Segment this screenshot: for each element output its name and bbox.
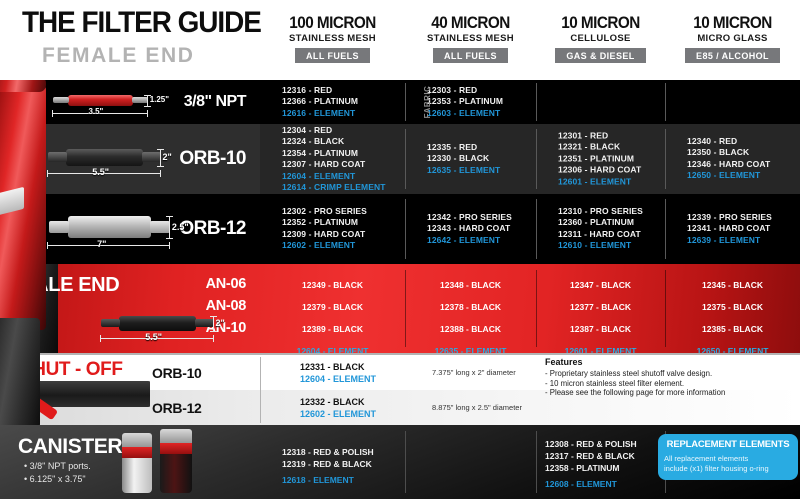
column-fuel-badge: ALL FUELS bbox=[433, 48, 508, 63]
part-number: 12330 - BLACK bbox=[427, 153, 500, 164]
part-number: 12639 - ELEMENT bbox=[687, 235, 772, 246]
filter-body bbox=[68, 95, 133, 106]
part-number-cell bbox=[536, 80, 665, 124]
features-block: Features - Proprietary stainless steel s… bbox=[545, 357, 725, 398]
part-number: 12351 - PLATINUM bbox=[558, 153, 641, 164]
shutoff-dimension: 8.875" long x 2.5" diameter bbox=[432, 403, 522, 412]
row-label: 3/8" NPT bbox=[184, 93, 246, 111]
column-divider bbox=[536, 270, 537, 347]
row-label: ORB-12 bbox=[179, 218, 246, 240]
product-thumbnail: 5.5"2" bbox=[95, 304, 220, 346]
column-material-label: MICRO GLASS bbox=[665, 33, 800, 44]
part-number: 12650 - ELEMENT bbox=[687, 170, 770, 181]
part-number-list: 12335 - RED12330 - BLACK12635 - ELEMENT bbox=[427, 142, 500, 176]
part-number: 12302 - PRO SERIES bbox=[282, 206, 367, 217]
column-micron-label: 100 MICRON bbox=[267, 14, 398, 32]
part-number-cell: 12316 - RED12366 - PLATINUM12616 - ELEME… bbox=[260, 80, 405, 124]
part-number-cell: 12345 - BLACK12375 - BLACK12385 - BLACK1… bbox=[665, 264, 800, 353]
dimension-tick bbox=[157, 166, 164, 167]
part-number-list: 12340 - RED12350 - BLACK12346 - HARD COA… bbox=[687, 136, 770, 182]
dimension-length-label: 3.5" bbox=[88, 107, 103, 116]
part-number: 12618 - ELEMENT bbox=[282, 475, 354, 486]
part-number: 12308 - RED & POLISH bbox=[545, 439, 637, 450]
filter-body bbox=[66, 149, 144, 166]
part-number: 12301 - RED bbox=[558, 130, 641, 141]
part-number: 12353 - PLATINUM bbox=[427, 96, 503, 107]
dimension-tick bbox=[144, 106, 151, 107]
part-number: 12331 - BLACK bbox=[300, 362, 365, 373]
male-end-section: MALE END AN-06AN-08AN-105.5"2" 12349 - B… bbox=[0, 264, 800, 353]
column-divider bbox=[405, 199, 406, 259]
table-row: ORB-127"2.5"12302 - PRO SERIES12352 - PL… bbox=[0, 194, 800, 264]
part-number: 12387 - BLACK bbox=[536, 324, 665, 334]
fabric-label: FABRIC bbox=[423, 86, 432, 119]
column-micron-label: 10 MICRON bbox=[542, 14, 658, 32]
shutoff-orb-label: ORB-10 bbox=[152, 365, 202, 381]
part-number: 12375 - BLACK bbox=[665, 302, 800, 312]
part-number: 12385 - BLACK bbox=[665, 324, 800, 334]
canister-spec: • 3/8" NPT ports. bbox=[24, 461, 91, 471]
part-number: 12379 - BLACK bbox=[260, 302, 405, 312]
dimension-line-diameter bbox=[147, 95, 148, 106]
replacement-elements-heading: REPLACEMENT ELEMENTS bbox=[658, 439, 798, 450]
column-divider bbox=[536, 129, 537, 189]
part-number-list: 12310 - PRO SERIES12360 - PLATINUM12311 … bbox=[558, 206, 643, 252]
dimension-length-label: 5.5" bbox=[92, 167, 109, 177]
part-number-cell: 12301 - RED12321 - BLACK12351 - PLATINUM… bbox=[536, 124, 665, 194]
part-number: 12345 - BLACK bbox=[665, 280, 800, 290]
dimension-line-diameter bbox=[213, 316, 214, 331]
column-header-1: 100 MICRONSTAINLESS MESHALL FUELS bbox=[260, 14, 405, 64]
part-number: 12347 - BLACK bbox=[536, 280, 665, 290]
features-heading: Features bbox=[545, 357, 725, 367]
filter-guide-page: THE FILTER GUIDE FEMALE END 100 MICRONST… bbox=[0, 0, 800, 499]
filter-body bbox=[68, 216, 152, 238]
part-number: 12642 - ELEMENT bbox=[427, 235, 512, 246]
part-number-cell: 12348 - BLACK12378 - BLACK12388 - BLACK1… bbox=[405, 264, 536, 353]
part-number: 12354 - PLATINUM bbox=[282, 148, 386, 159]
part-number-list: 12301 - RED12321 - BLACK12351 - PLATINUM… bbox=[558, 130, 641, 187]
column-material-label: STAINLESS MESH bbox=[260, 33, 405, 44]
part-number: 12602 - ELEMENT bbox=[282, 240, 367, 251]
column-fuel-badge: ALL FUELS bbox=[295, 48, 370, 63]
part-number: 12341 - HARD COAT bbox=[687, 223, 772, 234]
column-fuel-badge: GAS & DIESEL bbox=[555, 48, 645, 63]
dimension-tick bbox=[147, 110, 148, 117]
column-divider bbox=[405, 83, 406, 121]
shutoff-section: ORB-1212332 - BLACK12602 - ELEMENT8.875"… bbox=[0, 353, 800, 425]
part-number: 12635 - ELEMENT bbox=[427, 165, 500, 176]
page-header: THE FILTER GUIDE FEMALE END 100 MICRONST… bbox=[0, 0, 800, 80]
part-number-cell: 12342 - PRO SERIES12343 - HARD COAT12642… bbox=[405, 194, 536, 264]
part-number: 12342 - PRO SERIES bbox=[427, 212, 512, 223]
column-divider bbox=[536, 83, 537, 121]
row-cells: 12316 - RED12366 - PLATINUM12616 - ELEME… bbox=[260, 80, 800, 124]
dimension-tick bbox=[210, 316, 217, 317]
part-number: 12309 - HARD COAT bbox=[282, 229, 367, 240]
shutoff-orb-label: ORB-12 bbox=[152, 400, 202, 416]
part-number-list: 12303 - RED12353 - PLATINUM12603 - ELEME… bbox=[427, 85, 503, 119]
part-number: 12349 - BLACK bbox=[260, 280, 405, 290]
part-number: 12602 - ELEMENT bbox=[300, 409, 376, 420]
dimension-length-label: 7" bbox=[97, 239, 106, 249]
part-number: 12377 - BLACK bbox=[536, 302, 665, 312]
hero-lower-body bbox=[0, 318, 40, 425]
column-material-label: CELLULOSE bbox=[536, 33, 665, 44]
row-label: ORB-10 bbox=[179, 148, 246, 170]
part-number: 12339 - PRO SERIES bbox=[687, 212, 772, 223]
filter-end-cap bbox=[150, 221, 170, 233]
column-header-2: 40 MICRONSTAINLESS MESHALL FUELS bbox=[405, 14, 536, 64]
part-number-cell bbox=[665, 80, 800, 124]
part-number: 12616 - ELEMENT bbox=[282, 108, 358, 119]
canister-body-polish bbox=[122, 458, 152, 493]
canister-title: CANISTER bbox=[18, 435, 122, 459]
feature-item: - 10 micron stainless steel filter eleme… bbox=[545, 379, 725, 389]
canister-image-black bbox=[160, 429, 192, 493]
part-number: 12346 - HARD COAT bbox=[687, 159, 770, 170]
part-number-cell: 12335 - RED12330 - BLACK12635 - ELEMENT bbox=[405, 124, 536, 194]
hero-cap bbox=[0, 80, 46, 92]
part-number-list: 12316 - RED12366 - PLATINUM12616 - ELEME… bbox=[282, 85, 358, 119]
replacement-elements-badge: REPLACEMENT ELEMENTS All replacement ele… bbox=[658, 434, 798, 480]
dimension-tick bbox=[169, 242, 170, 249]
part-number: 12604 - ELEMENT bbox=[282, 170, 386, 181]
part-number-cell: 12303 - RED12353 - PLATINUM12603 - ELEME… bbox=[405, 80, 536, 124]
part-number: 12324 - BLACK bbox=[282, 136, 386, 147]
part-number: 12603 - ELEMENT bbox=[427, 108, 503, 119]
filter-end-cap bbox=[101, 319, 120, 327]
part-number: 12378 - BLACK bbox=[405, 302, 536, 312]
part-number: 12343 - HARD COAT bbox=[427, 223, 512, 234]
female-end-section: 3/8" NPT3.5"1.25"12316 - RED12366 - PLAT… bbox=[0, 80, 800, 264]
dimension-diameter-label: 2" bbox=[216, 318, 225, 328]
product-thumbnail: 3.5"1.25" bbox=[48, 84, 153, 120]
section-subtitle-female-end: FEMALE END bbox=[42, 44, 195, 68]
part-number: 12358 - PLATINUM bbox=[545, 463, 619, 474]
feature-item: - Please see the following page for more… bbox=[545, 388, 725, 398]
column-divider bbox=[405, 270, 406, 347]
dimension-tick bbox=[210, 331, 217, 332]
column-divider bbox=[665, 83, 666, 121]
part-number: 12350 - BLACK bbox=[687, 148, 770, 159]
part-number: 12601 - ELEMENT bbox=[558, 176, 641, 187]
part-number: 12604 - ELEMENT bbox=[300, 374, 376, 385]
dimension-tick bbox=[166, 216, 173, 217]
filter-end-cap bbox=[132, 97, 148, 103]
canister-spec: • 6.125" x 3.75" bbox=[24, 474, 86, 484]
part-number: 12303 - RED bbox=[427, 85, 503, 96]
part-number-list: 12302 - PRO SERIES12352 - PLATINUM12309 … bbox=[282, 206, 367, 252]
filter-body bbox=[119, 316, 197, 331]
dimension-length-label: 5.5" bbox=[145, 332, 162, 342]
part-number: 12360 - PLATINUM bbox=[558, 218, 643, 229]
part-number: 12306 - HARD COAT bbox=[558, 165, 641, 176]
column-material-label: STAINLESS MESH bbox=[405, 33, 536, 44]
part-number-list: 12339 - PRO SERIES12341 - HARD COAT12639… bbox=[687, 212, 772, 246]
dimension-tick bbox=[166, 238, 173, 239]
product-thumbnail: 7"2.5" bbox=[42, 202, 177, 256]
part-number: 12321 - BLACK bbox=[558, 142, 641, 153]
part-number: 12335 - RED bbox=[427, 142, 500, 153]
replacement-note-line: All replacement elements bbox=[664, 454, 748, 463]
column-divider bbox=[665, 270, 666, 347]
column-divider bbox=[405, 431, 406, 493]
shutoff-top-divider bbox=[0, 353, 800, 355]
dimension-tick bbox=[213, 335, 214, 342]
part-number: 12310 - PRO SERIES bbox=[558, 206, 643, 217]
features-list: - Proprietary stainless steel shutoff va… bbox=[545, 369, 725, 398]
part-number-cell: 12339 - PRO SERIES12341 - HARD COAT12639… bbox=[665, 194, 800, 264]
column-micron-label: 40 MICRON bbox=[412, 14, 530, 32]
dimension-line-length bbox=[47, 245, 169, 246]
part-number-list: 12304 - RED12324 - BLACK12354 - PLATINUM… bbox=[282, 125, 386, 193]
page-title: THE FILTER GUIDE bbox=[22, 6, 261, 40]
dimension-line-diameter bbox=[160, 149, 161, 166]
part-number-cell: 12302 - PRO SERIES12352 - PLATINUM12309 … bbox=[260, 194, 405, 264]
dimension-diameter-label: 1.25" bbox=[150, 95, 169, 104]
part-number-cell: 12310 - PRO SERIES12360 - PLATINUM12311 … bbox=[536, 194, 665, 264]
dimension-tick bbox=[160, 170, 161, 177]
dimension-line-diameter bbox=[169, 216, 170, 238]
part-number: 12348 - BLACK bbox=[405, 280, 536, 290]
part-number: 12340 - RED bbox=[687, 136, 770, 147]
row-cells: 12302 - PRO SERIES12352 - PLATINUM12309 … bbox=[260, 194, 800, 264]
dimension-diameter-label: 2" bbox=[163, 152, 172, 162]
part-number: 12316 - RED bbox=[282, 85, 358, 96]
column-micron-label: 10 MICRON bbox=[672, 14, 794, 32]
part-number: 12366 - PLATINUM bbox=[282, 96, 358, 107]
canister-body-black bbox=[160, 454, 192, 493]
filter-end-cap bbox=[142, 152, 161, 162]
row-cells: 12304 - RED12324 - BLACK12354 - PLATINUM… bbox=[260, 124, 800, 194]
column-fuel-badge: E85 / ALCOHOL bbox=[685, 48, 780, 63]
part-number: 12610 - ELEMENT bbox=[558, 240, 643, 251]
column-divider bbox=[536, 431, 537, 493]
part-number: 12388 - BLACK bbox=[405, 324, 536, 334]
column-divider bbox=[405, 129, 406, 189]
column-divider bbox=[665, 129, 666, 189]
part-number-cell: 12304 - RED12324 - BLACK12354 - PLATINUM… bbox=[260, 124, 405, 194]
part-number-list: 12342 - PRO SERIES12343 - HARD COAT12642… bbox=[427, 212, 512, 246]
column-divider bbox=[536, 199, 537, 259]
part-number-cell: 12340 - RED12350 - BLACK12346 - HARD COA… bbox=[665, 124, 800, 194]
dimension-tick bbox=[157, 149, 164, 150]
table-row: 3/8" NPT3.5"1.25"12316 - RED12366 - PLAT… bbox=[0, 80, 800, 124]
part-number: 12608 - ELEMENT bbox=[545, 479, 617, 490]
part-number: 12352 - PLATINUM bbox=[282, 218, 367, 229]
part-number: 12319 - RED & BLACK bbox=[282, 459, 372, 470]
male-size-label: AN-06 bbox=[206, 276, 246, 292]
part-number: 12332 - BLACK bbox=[300, 397, 365, 408]
filter-end-cap bbox=[195, 319, 214, 327]
column-header-3: 10 MICRONCELLULOSEGAS & DIESEL bbox=[536, 14, 665, 64]
part-number: 12614 - CRIMP ELEMENT bbox=[282, 182, 386, 193]
part-number: 12311 - HARD COAT bbox=[558, 229, 643, 240]
replacement-note-line: include (x1) filter housing o-ring bbox=[664, 464, 769, 473]
dimension-tick bbox=[100, 335, 101, 342]
hero-filter-image bbox=[0, 80, 62, 425]
part-number: 12389 - BLACK bbox=[260, 324, 405, 334]
part-number: 12307 - HARD COAT bbox=[282, 159, 386, 170]
part-number: 12318 - RED & POLISH bbox=[282, 447, 374, 458]
part-number-cell: 12349 - BLACK12379 - BLACK12389 - BLACK1… bbox=[260, 264, 405, 353]
column-divider bbox=[665, 199, 666, 259]
canister-image-polish bbox=[122, 433, 152, 493]
part-number: 12317 - RED & BLACK bbox=[545, 451, 635, 462]
part-number-cell: 12347 - BLACK12377 - BLACK12387 - BLACK1… bbox=[536, 264, 665, 353]
column-header-4: 10 MICRONMICRO GLASSE85 / ALCOHOL bbox=[665, 14, 800, 64]
table-row: ORB-105.5"2"12304 - RED12324 - BLACK1235… bbox=[0, 124, 800, 194]
part-number: 12304 - RED bbox=[282, 125, 386, 136]
feature-item: - Proprietary stainless steel shutoff va… bbox=[545, 369, 725, 379]
column-divider bbox=[260, 357, 261, 423]
dimension-diameter-label: 2.5" bbox=[172, 222, 189, 232]
shutoff-dimension: 7.375" long x 2" diameter bbox=[432, 368, 516, 377]
